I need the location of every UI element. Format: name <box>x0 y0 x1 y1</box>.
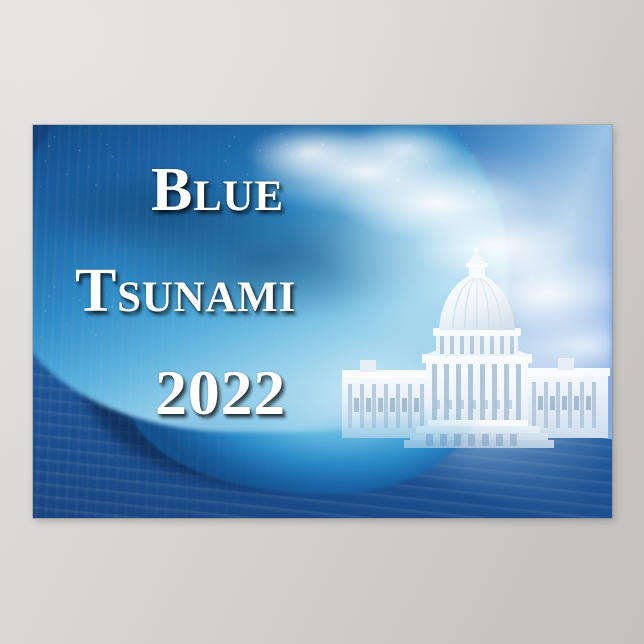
poster-preview-canvas: Blue Tsunami 2022 <box>0 0 644 644</box>
us-capitol-building-icon <box>340 248 610 474</box>
poster-artwork[interactable]: Blue Tsunami 2022 <box>33 125 612 518</box>
